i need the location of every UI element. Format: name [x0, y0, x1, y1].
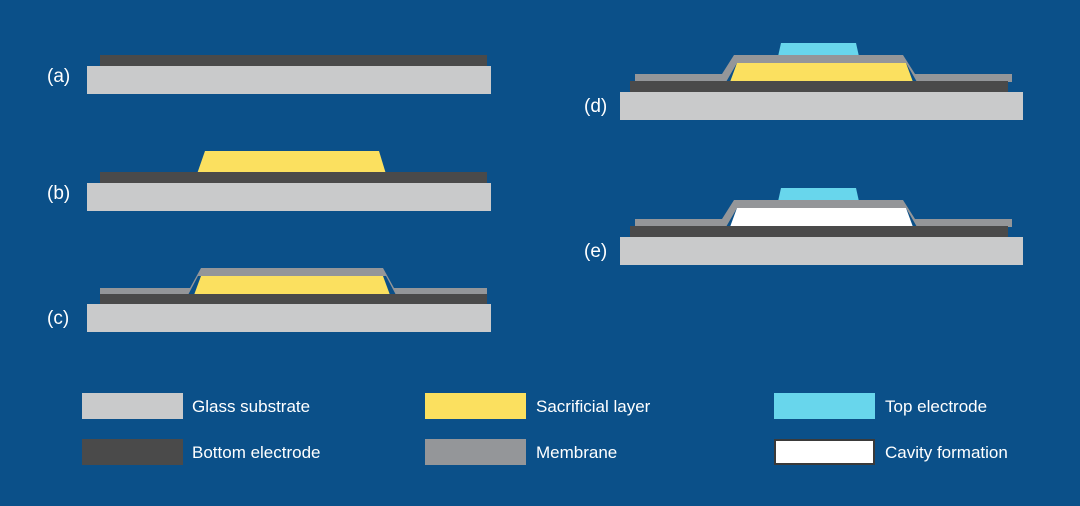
legend-item-bottom-electrode: Bottom electrode: [82, 439, 321, 465]
panel-c-sacrificial-layer: [194, 276, 390, 295]
legend-label-top-electrode: Top electrode: [885, 397, 987, 416]
panel-d-sacrificial-layer: [730, 63, 913, 82]
legend-swatch-sacrificial-layer: [425, 393, 526, 419]
panel-b-sacrificial-layer: [197, 151, 386, 174]
panel-b-glass-substrate: [87, 183, 491, 211]
panel-e-label: (e): [584, 241, 607, 262]
panel-e-cavity: [730, 208, 913, 227]
panel-c-label: (c): [47, 308, 69, 329]
panel-a-label: (a): [47, 66, 70, 87]
legend-label-sacrificial-layer: Sacrificial layer: [536, 397, 651, 416]
panel-d-glass-substrate: [620, 92, 1023, 120]
legend-swatch-glass-substrate: [82, 393, 183, 419]
legend-item-glass-substrate: Glass substrate: [82, 393, 310, 419]
legend-label-glass-substrate: Glass substrate: [192, 397, 310, 416]
legend-swatch-membrane: [425, 439, 526, 465]
panel-d-bottom-electrode: [630, 81, 1008, 92]
panel-e-bottom-electrode: [630, 226, 1008, 237]
panel-c-bottom-electrode: [100, 294, 487, 304]
legend-swatch-top-electrode: [774, 393, 875, 419]
legend-label-cavity-formation: Cavity formation: [885, 443, 1008, 462]
panel-a: (a): [47, 55, 491, 94]
process-flow-figure: (a) (b) (c) (d) (e): [0, 0, 1080, 506]
legend-swatch-bottom-electrode: [82, 439, 183, 465]
legend-item-cavity-formation: Cavity formation: [775, 440, 1008, 464]
legend-swatch-cavity-formation: [775, 440, 874, 464]
panel-a-glass-substrate: [87, 66, 491, 94]
legend-item-sacrificial-layer: Sacrificial layer: [425, 393, 651, 419]
panel-d-label: (d): [584, 96, 607, 117]
legend-label-membrane: Membrane: [536, 443, 617, 462]
panel-c-glass-substrate: [87, 304, 491, 332]
legend-item-membrane: Membrane: [425, 439, 617, 465]
panel-e-glass-substrate: [620, 237, 1023, 265]
panel-b-bottom-electrode: [100, 172, 487, 183]
panel-b-label: (b): [47, 183, 70, 204]
panel-a-bottom-electrode: [100, 55, 487, 66]
legend-label-bottom-electrode: Bottom electrode: [192, 443, 321, 462]
